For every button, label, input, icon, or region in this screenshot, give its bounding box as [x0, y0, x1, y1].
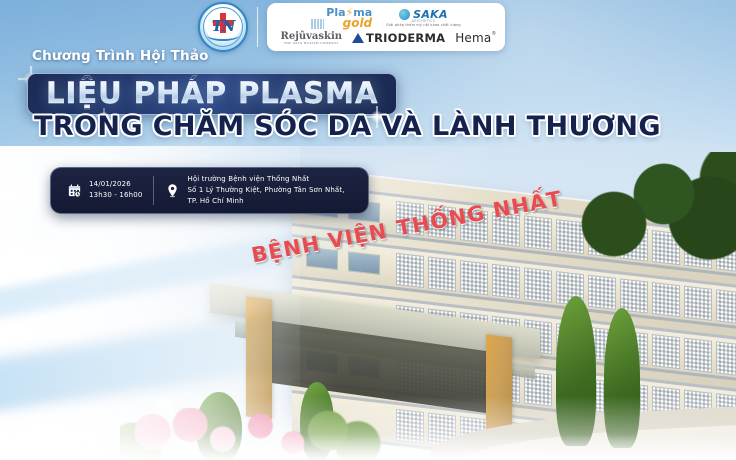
plasma-gold-wordmark-bottom: gold — [343, 18, 373, 29]
registered-mark: ® — [491, 31, 496, 37]
saka-logo: SAKA AESTHETICS Giải pháp thẩm mỹ nội kh… — [386, 9, 461, 28]
logo-wings-icon — [207, 30, 239, 41]
event-date: 14/01/2026 — [89, 179, 142, 190]
saka-tagline: Giải pháp thẩm mỹ nội khoa chất lượng — [386, 24, 461, 27]
seminar-poster: BỆNH VIỆN THỐNG NHẤT TN Pla⚡ma gold — [0, 0, 736, 460]
venue-name: Hội trường Bệnh viện Thống Nhất — [187, 174, 344, 185]
poster-kicker: Chương Trình Hội Thảo — [32, 48, 209, 64]
calendar-icon — [67, 183, 82, 198]
page-title: LIỆU PHÁP PLASMA — [46, 79, 378, 108]
poster-subtitle: TRONG CHĂM SÓC DA VÀ LÀNH THƯƠNG — [34, 113, 661, 140]
poster-title-bar: LIỆU PHÁP PLASMA — [27, 73, 397, 115]
event-time: 13h30 - 16h00 — [89, 190, 142, 201]
triangle-icon — [352, 33, 364, 43]
rejuvaskin-logo: Rejûvaskin THE SKIN HEALTH COMPANY — [281, 32, 342, 45]
event-venue-text: Hội trường Bệnh viện Thống Nhất Số 1 Lý … — [187, 174, 344, 207]
event-venue-cell: Hội trường Bệnh viện Thống Nhất Số 1 Lý … — [154, 174, 355, 207]
logo-strip: TN Pla⚡ma gold — [198, 2, 505, 52]
partner-logo-row-2: Rejûvaskin THE SKIN HEALTH COMPANY TRIOD… — [281, 31, 492, 45]
trioderma-wordmark: TRIODERMA — [366, 31, 445, 45]
hema-wordmark: Hema — [455, 31, 491, 45]
partner-logo-panel: Pla⚡ma gold SAKA AESTHETICS Giải pháp th… — [267, 3, 505, 52]
bolt-icon: ⚡ — [346, 6, 354, 19]
venue-city: TP. Hồ Chí Minh — [187, 196, 344, 207]
event-info-bar: 14/01/2026 13h30 - 16h00 Hội trường Bệnh… — [50, 167, 369, 214]
event-date-text: 14/01/2026 13h30 - 16h00 — [89, 179, 142, 201]
event-date-cell: 14/01/2026 13h30 - 16h00 — [63, 174, 153, 207]
venue-street: Số 1 Lý Thường Kiệt, Phường Tân Sơn Nhất… — [187, 185, 344, 196]
logo-divider — [257, 7, 258, 47]
plasma-gold-bars-icon — [311, 19, 324, 29]
bottom-fade — [0, 434, 736, 460]
hema-logo: Hema® — [455, 31, 491, 45]
hospital-thong-nhat-logo: TN — [198, 2, 248, 52]
foreground-tree-canopy — [554, 152, 736, 272]
rejuvaskin-subtitle: THE SKIN HEALTH COMPANY — [284, 42, 339, 45]
trioderma-logo: TRIODERMA — [352, 31, 445, 45]
plasma-gold-logo: Pla⚡ma gold — [311, 8, 372, 30]
partner-logo-row-1: Pla⚡ma gold SAKA AESTHETICS Giải pháp th… — [311, 8, 460, 30]
plasma-gold-wordmark-top: Pla⚡ma — [326, 8, 372, 18]
map-pin-icon — [165, 183, 180, 198]
saka-mark-icon — [399, 9, 410, 20]
